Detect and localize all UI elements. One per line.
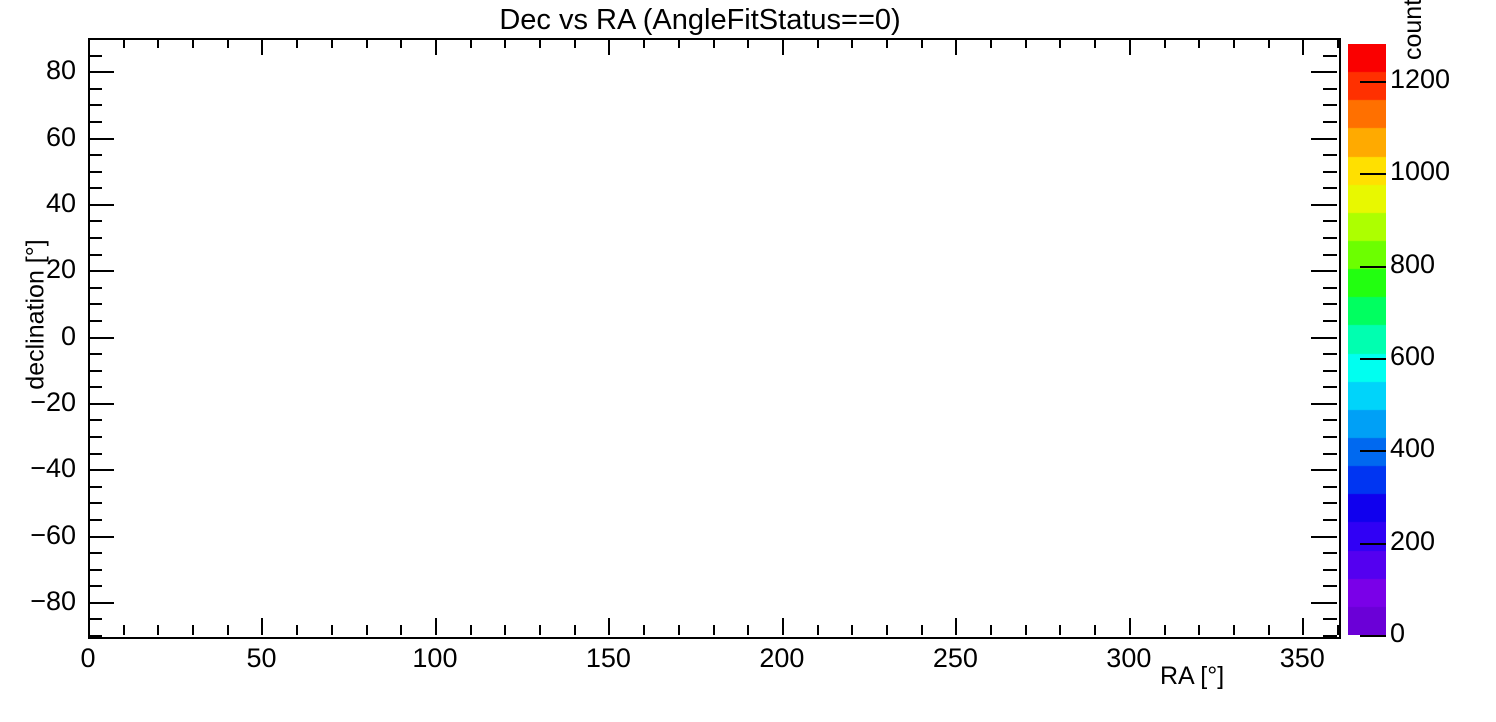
colorbar-tick-label: 800 (1390, 249, 1435, 280)
colorbar-tick (1360, 81, 1386, 83)
x-axis-tick (1164, 38, 1166, 48)
x-axis-tick (1233, 625, 1235, 635)
x-axis-tick (921, 38, 923, 48)
y-axis-tick (88, 453, 102, 455)
y-axis-tick-label: 80 (0, 55, 76, 86)
x-axis-tick (713, 625, 715, 635)
y-axis-tick (1311, 403, 1337, 405)
colorbar-tick (1360, 635, 1386, 637)
x-axis-tick-label: 350 (1262, 643, 1342, 674)
y-axis-tick (1323, 569, 1337, 571)
x-axis-tick (504, 38, 506, 48)
x-axis-tick (1164, 625, 1166, 635)
x-axis-tick (1302, 38, 1304, 55)
x-axis-tick (504, 625, 506, 635)
x-axis-tick (955, 618, 957, 635)
y-axis-tick-label: 60 (0, 122, 76, 153)
x-axis-tick-label: 200 (742, 643, 822, 674)
x-axis-tick (1129, 38, 1131, 55)
y-axis-tick (88, 635, 102, 637)
y-axis-tick (88, 403, 114, 405)
x-axis-tick (435, 38, 437, 55)
y-axis-tick (1323, 436, 1337, 438)
x-axis-tick (1025, 38, 1027, 48)
y-axis-tick (1323, 320, 1337, 322)
colorbar-tick (1360, 266, 1386, 268)
y-axis-tick (88, 171, 102, 173)
x-axis-tick-label: 0 (48, 643, 128, 674)
colorbar-tick (1360, 450, 1386, 452)
x-axis-tick (1268, 625, 1270, 635)
colorbar-tick-label: 400 (1390, 433, 1435, 464)
y-axis-tick (1311, 71, 1337, 73)
root-canvas-plot: Dec vs RA (AngleFitStatus==0) 0501001502… (0, 0, 1496, 722)
y-axis-tick (1323, 237, 1337, 239)
y-axis-tick (1323, 121, 1337, 123)
y-axis-tick (1323, 552, 1337, 554)
y-axis-tick (88, 602, 114, 604)
y-axis-tick (88, 303, 102, 305)
x-axis-tick (713, 38, 715, 48)
x-axis-tick-label: 100 (395, 643, 475, 674)
y-axis-tick (1323, 618, 1337, 620)
x-axis-tick (990, 38, 992, 48)
y-axis-tick (1311, 536, 1337, 538)
x-axis-tick (539, 625, 541, 635)
x-axis-tick (1094, 625, 1096, 635)
x-axis-tick-label: 300 (1089, 643, 1169, 674)
x-axis-tick (1059, 38, 1061, 48)
colorbar-tick-label: 0 (1390, 618, 1405, 649)
x-axis-tick (331, 625, 333, 635)
y-axis-tick (88, 337, 114, 339)
x-axis-tick (470, 38, 472, 48)
y-axis-tick (1311, 337, 1337, 339)
x-axis-tick (643, 38, 645, 48)
y-axis-tick (1323, 453, 1337, 455)
y-axis-tick (88, 154, 102, 156)
x-axis-tick (678, 38, 680, 48)
y-axis-tick (1323, 486, 1337, 488)
x-axis-tick (851, 38, 853, 48)
y-axis-tick (1311, 270, 1337, 272)
x-axis-tick (747, 38, 749, 48)
y-axis-tick (1323, 187, 1337, 189)
y-axis-tick (1311, 469, 1337, 471)
x-axis-tick (192, 38, 194, 48)
plot-frame (88, 38, 1341, 639)
x-axis-tick (1268, 38, 1270, 48)
x-axis-tick (886, 38, 888, 48)
x-axis-tick-label: 250 (915, 643, 995, 674)
x-axis-tick (192, 625, 194, 635)
colorbar-tick-label: 1200 (1390, 64, 1450, 95)
y-axis-tick (88, 71, 114, 73)
y-axis-tick (88, 104, 102, 106)
y-axis-tick (1323, 386, 1337, 388)
x-axis-tick (123, 625, 125, 635)
y-axis-tick-label: −40 (0, 453, 76, 484)
x-axis-tick (747, 625, 749, 635)
x-axis-tick (574, 38, 576, 48)
y-axis-tick (1323, 370, 1337, 372)
y-axis-tick (1323, 220, 1337, 222)
x-axis-tick (817, 38, 819, 48)
page-title: Dec vs RA (AngleFitStatus==0) (0, 4, 1400, 37)
x-axis-tick (227, 38, 229, 48)
x-axis-tick (886, 625, 888, 635)
y-axis-tick-label: −80 (0, 586, 76, 617)
y-axis-tick (88, 436, 102, 438)
y-axis-tick (1323, 55, 1337, 57)
x-axis-tick-label: 50 (221, 643, 301, 674)
y-axis-tick (88, 618, 102, 620)
y-axis-tick (88, 237, 102, 239)
y-axis-tick (88, 270, 114, 272)
y-axis-tick (1323, 154, 1337, 156)
x-axis-tick (921, 625, 923, 635)
x-axis-tick (678, 625, 680, 635)
x-axis-tick (157, 625, 159, 635)
x-axis-tick (1302, 618, 1304, 635)
y-axis-tick (1323, 171, 1337, 173)
y-axis-tick (88, 419, 102, 421)
y-axis-tick (1323, 104, 1337, 106)
x-axis-tick (851, 625, 853, 635)
y-axis-tick (1323, 88, 1337, 90)
x-axis-tick (366, 38, 368, 48)
colorbar-tick-label: 1000 (1390, 156, 1450, 187)
x-axis-tick (608, 38, 610, 55)
x-axis-tick (366, 625, 368, 635)
x-axis-tick (157, 38, 159, 48)
x-axis-tick (296, 625, 298, 635)
x-axis-tick (1337, 625, 1339, 635)
x-axis-tick (227, 625, 229, 635)
x-axis-tick (88, 618, 90, 635)
x-axis-tick (539, 38, 541, 48)
x-axis-tick (782, 38, 784, 55)
x-axis-tick (1198, 625, 1200, 635)
y-axis-tick (88, 353, 102, 355)
colorbar-tick (1360, 543, 1386, 545)
colorbar-frame (1348, 44, 1386, 635)
x-axis-title: RA [°] (1160, 662, 1224, 691)
y-axis-tick (88, 486, 102, 488)
y-axis-tick (88, 55, 102, 57)
y-axis-tick (88, 536, 114, 538)
y-axis-tick (88, 38, 102, 40)
colorbar-tick (1360, 358, 1386, 360)
x-axis-tick (400, 38, 402, 48)
y-axis-tick (88, 320, 102, 322)
x-axis-tick-label: 150 (568, 643, 648, 674)
y-axis-tick (88, 469, 114, 471)
y-axis-tick (1323, 303, 1337, 305)
x-axis-tick (990, 625, 992, 635)
x-axis-tick (1233, 38, 1235, 48)
colorbar-title: count (1399, 0, 1428, 60)
y-axis-tick (1323, 353, 1337, 355)
x-axis-tick (296, 38, 298, 48)
y-axis-tick (88, 552, 102, 554)
x-axis-tick (1129, 618, 1131, 635)
x-axis-tick (1337, 38, 1339, 48)
x-axis-tick (1094, 38, 1096, 48)
y-axis-tick (1323, 585, 1337, 587)
x-axis-tick (574, 625, 576, 635)
x-axis-tick (261, 618, 263, 635)
y-axis-tick (88, 287, 102, 289)
y-axis-tick (88, 88, 102, 90)
y-axis-tick (1323, 502, 1337, 504)
x-axis-tick (782, 618, 784, 635)
y-axis-tick (1323, 519, 1337, 521)
x-axis-tick (817, 625, 819, 635)
y-axis-tick (88, 121, 102, 123)
x-axis-tick (470, 625, 472, 635)
y-axis-tick (1323, 287, 1337, 289)
y-axis-tick (88, 370, 102, 372)
y-axis-tick (88, 254, 102, 256)
y-axis-tick (88, 502, 102, 504)
y-axis-tick (88, 204, 114, 206)
x-axis-tick (1025, 625, 1027, 635)
x-axis-tick (331, 38, 333, 48)
y-axis-tick (1323, 635, 1337, 637)
y-axis-tick (1323, 419, 1337, 421)
y-axis-tick-label: −60 (0, 520, 76, 551)
y-axis-tick (88, 569, 102, 571)
y-axis-tick (1311, 138, 1337, 140)
x-axis-tick (955, 38, 957, 55)
x-axis-tick (123, 38, 125, 48)
x-axis-tick (1198, 38, 1200, 48)
y-axis-tick (88, 220, 102, 222)
y-axis-tick (1311, 602, 1337, 604)
colorbar-tick (1360, 173, 1386, 175)
x-axis-tick (261, 38, 263, 55)
y-axis-tick (1311, 204, 1337, 206)
y-axis-tick (1323, 254, 1337, 256)
y-axis-tick (1323, 38, 1337, 40)
x-axis-tick (608, 618, 610, 635)
y-axis-tick (88, 187, 102, 189)
y-axis-tick (88, 386, 102, 388)
y-axis-tick (88, 585, 102, 587)
colorbar-tick-label: 600 (1390, 341, 1435, 372)
x-axis-tick (88, 38, 90, 55)
y-axis-title: declination [°] (22, 195, 51, 435)
y-axis-tick (88, 138, 114, 140)
x-axis-tick (1059, 625, 1061, 635)
y-axis-tick (88, 519, 102, 521)
colorbar-tick-label: 200 (1390, 526, 1435, 557)
x-axis-tick (643, 625, 645, 635)
x-axis-tick (400, 625, 402, 635)
x-axis-tick (435, 618, 437, 635)
